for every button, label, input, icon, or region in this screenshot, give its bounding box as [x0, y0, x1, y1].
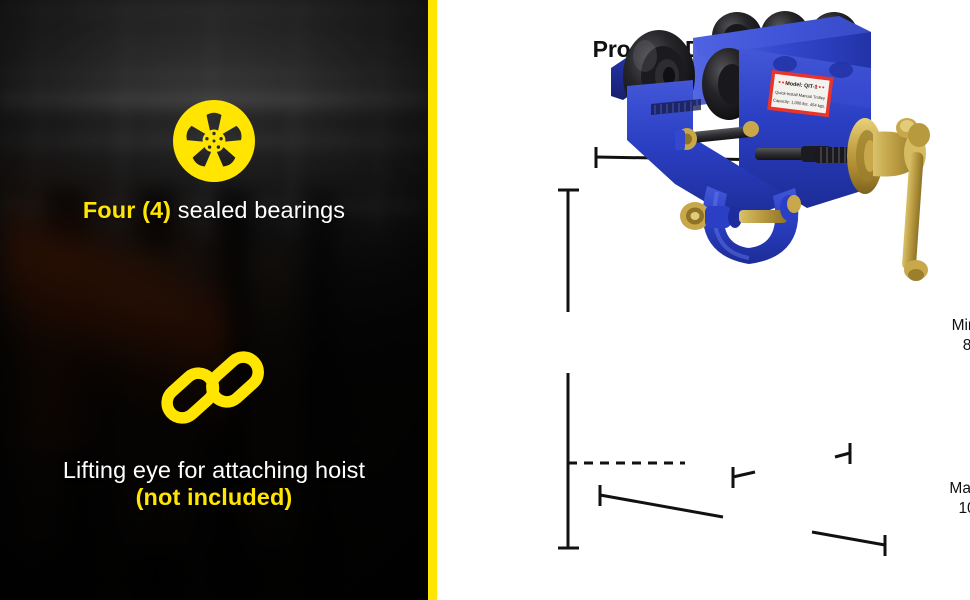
dim-label-side-minimum: Minimum 8 - ½” [935, 316, 970, 357]
feature-photo-panel: Four (4) sealed bearings [0, 0, 428, 600]
dim-line-6-34-b [835, 453, 850, 457]
product-label: Model: QIT-1 Quick-Install Manual Trolle… [767, 70, 833, 117]
chain-link-icon-wrap [0, 343, 428, 435]
feature-caption-sub: (not included) [0, 484, 428, 512]
dim-qualifier: Maximum [935, 479, 970, 499]
dim-value: 8 - ½” [935, 336, 970, 356]
feature-list: Four (4) sealed bearings [0, 0, 428, 600]
infographic-page: Four (4) sealed bearings [0, 0, 970, 600]
dim-line-11-34-b [812, 532, 885, 545]
feature-caption-lifting: Lifting eye for attaching hoist (not inc… [0, 457, 428, 512]
feature-sealed-bearings: Four (4) sealed bearings [0, 95, 428, 225]
chain-link-icon [160, 343, 268, 435]
feature-caption-rest: sealed bearings [171, 197, 345, 223]
dim-value: 10 - ¼” [935, 499, 970, 519]
feature-caption-highlight: Four (4) [83, 197, 171, 223]
feature-lifting-eye: Lifting eye for attaching hoist (not inc… [0, 343, 428, 512]
product-image-trolley: Model: QIT-1 Quick-Install Manual Trolle… [589, 8, 939, 318]
product-dimensions-panel: Product Dimensions [437, 0, 970, 600]
feature-caption-bearings: Four (4) sealed bearings [0, 197, 428, 225]
dim-line-6-34-a [733, 472, 755, 477]
yellow-divider [428, 0, 437, 600]
dim-qualifier: Minimum [935, 316, 970, 336]
dim-line-11-34-a [600, 495, 723, 517]
feature-caption-main: Lifting eye for attaching hoist [63, 457, 365, 483]
wheel-bearing-icon [172, 99, 256, 183]
dim-label-side-maximum: Maximum 10 - ¼” [935, 479, 970, 520]
wheel-bearing-icon-wrap [0, 95, 428, 187]
